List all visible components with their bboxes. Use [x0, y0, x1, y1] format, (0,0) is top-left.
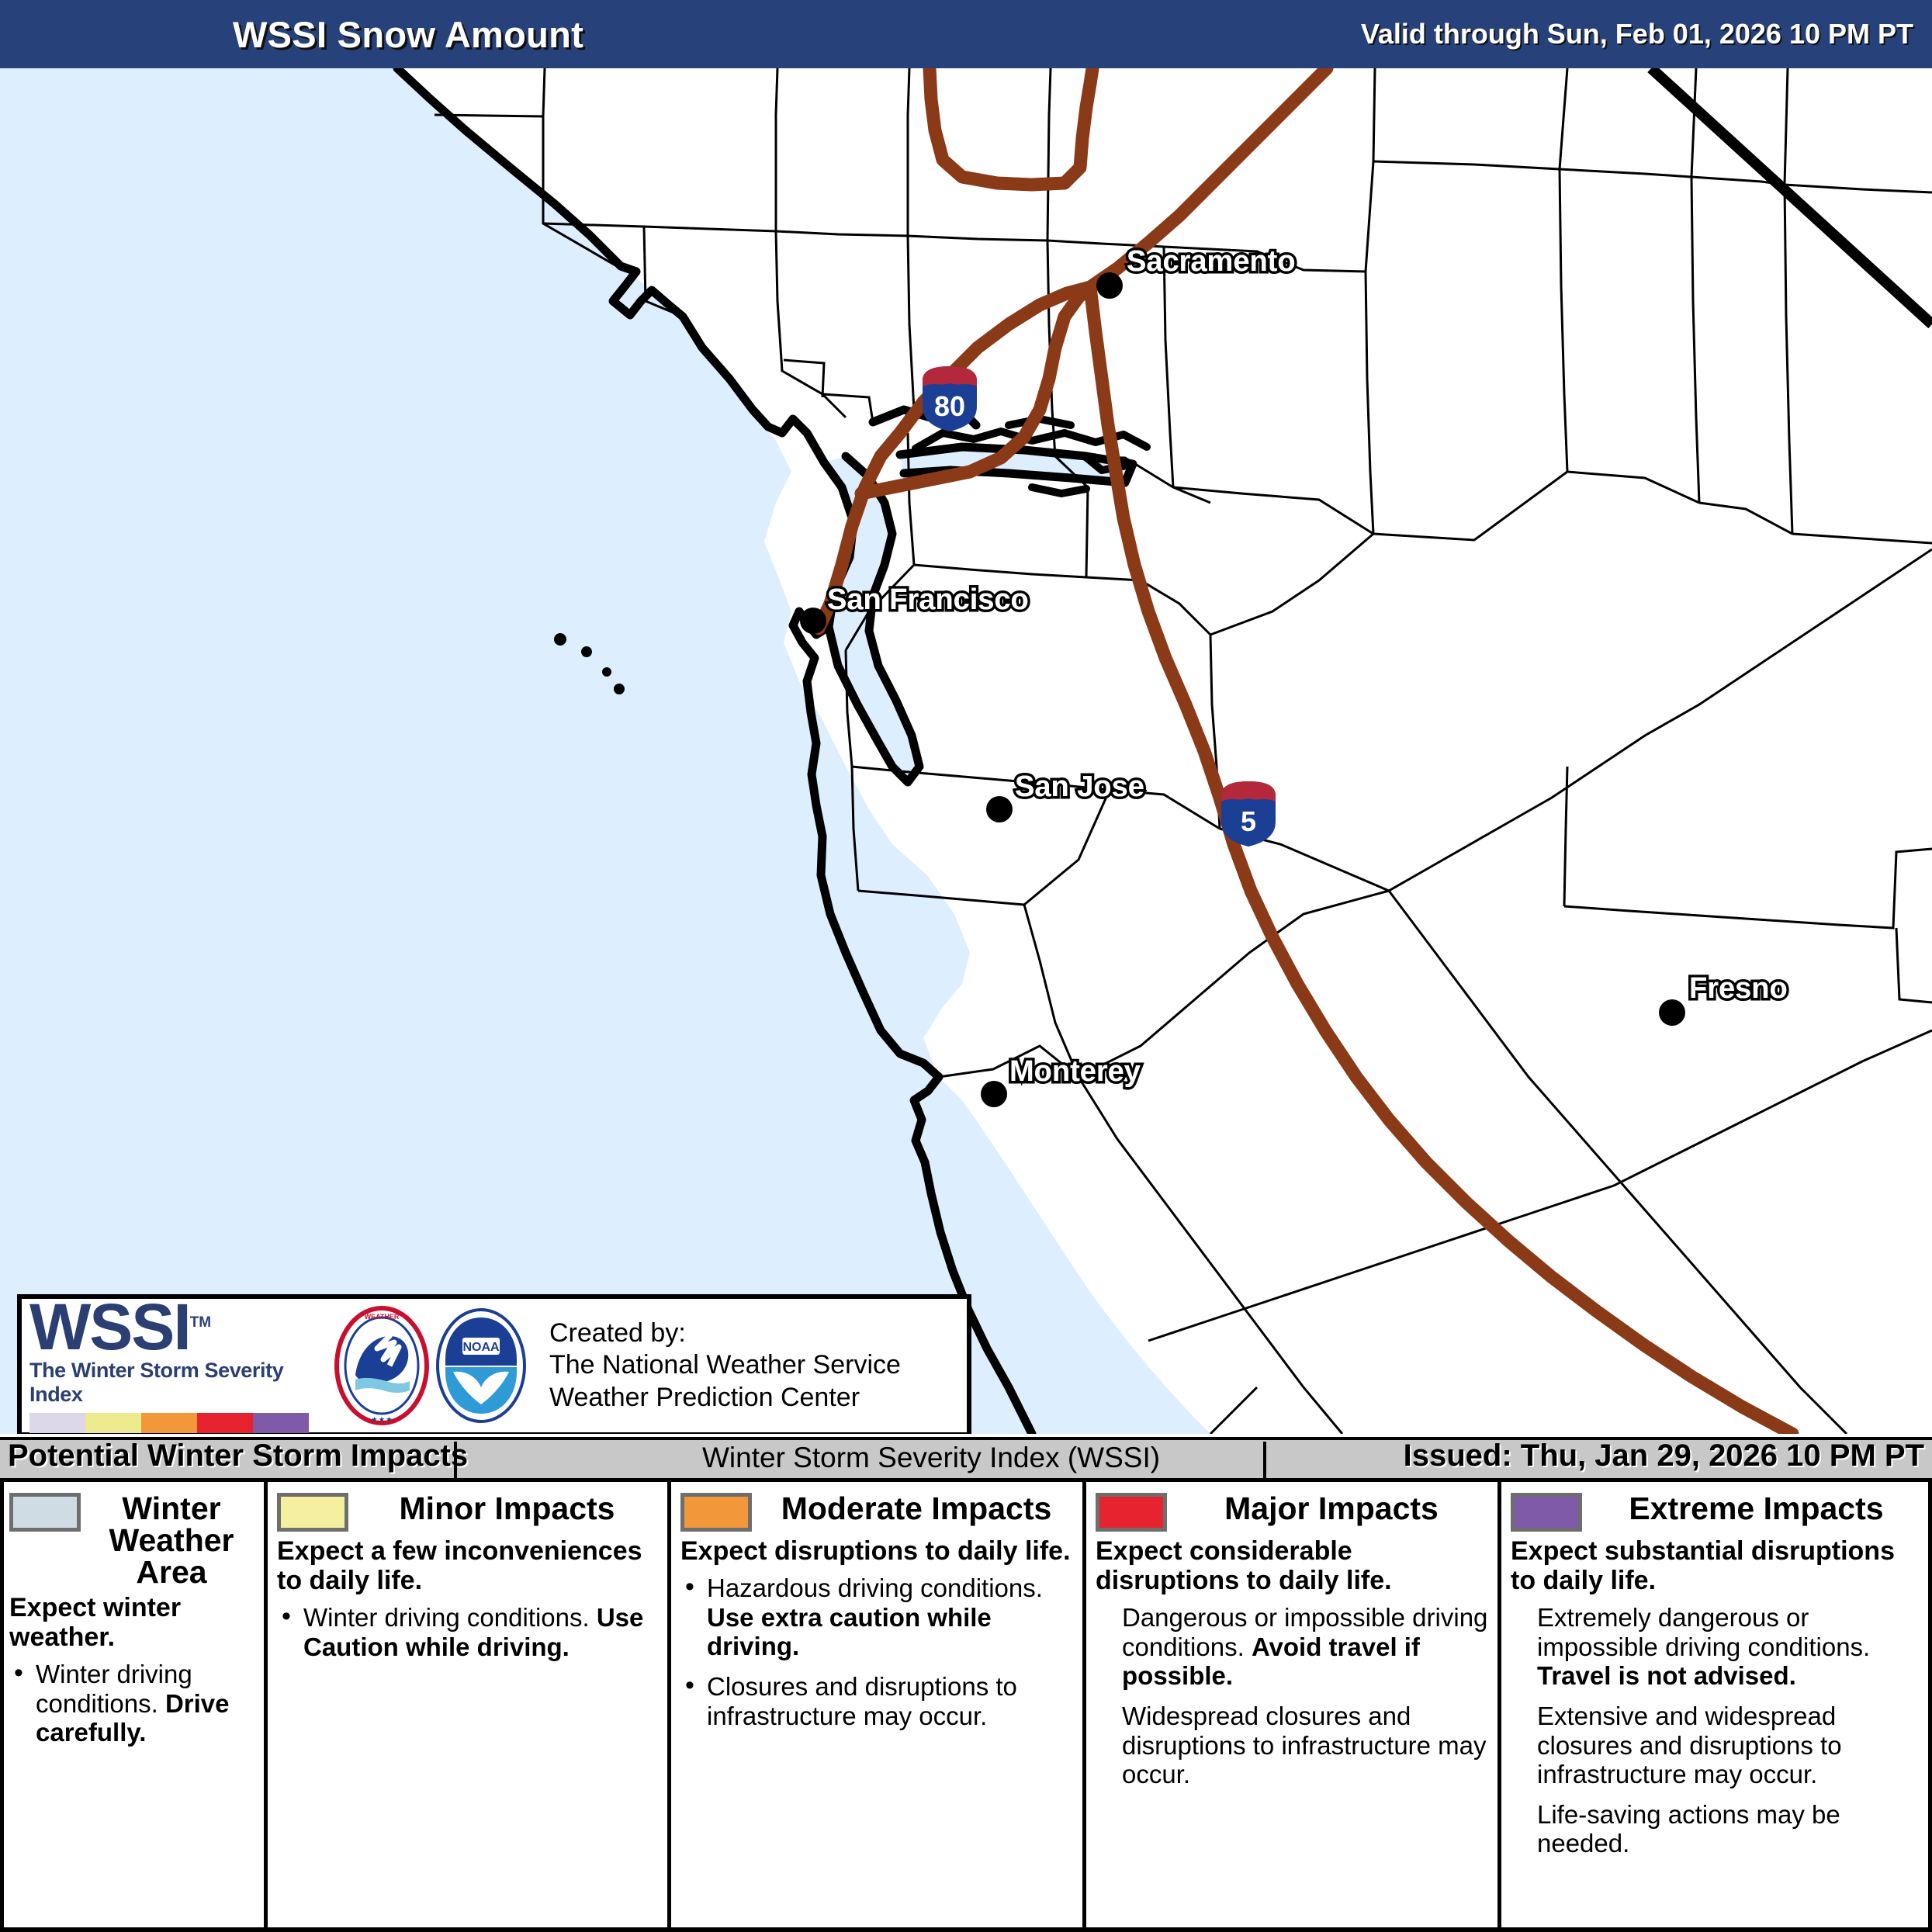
wssi-trademark: TM: [190, 1314, 211, 1331]
strip-swatch-winter-weather: [29, 1413, 85, 1433]
legend-column-extreme-impacts[interactable]: Extreme Impacts Expect substantial disru…: [1501, 1482, 1932, 1927]
city-dot: [1096, 272, 1123, 299]
legend-bullets: •Hazardous driving conditions. Use extra…: [680, 1574, 1073, 1730]
island-farallon-4: [614, 684, 625, 694]
legend-swatch-major-impacts: [1096, 1493, 1167, 1532]
legend-bullet: •Winter driving conditions. Drive carefu…: [9, 1660, 254, 1747]
legend-summary: Expect disruptions to daily life.: [680, 1536, 1073, 1566]
legend-bullet: Extensive and widespread closures and di…: [1511, 1702, 1923, 1789]
legend-summary: Expect considerable disruptions to daily…: [1096, 1536, 1488, 1595]
legend-title-winter-weather-area: Winter Weather Area: [88, 1493, 254, 1588]
interstate-80-number: 80: [934, 390, 965, 422]
created-by-agency: The National Weather Service: [549, 1349, 901, 1381]
legend-swatch-minor-impacts: [277, 1493, 348, 1532]
legend-bullet: •Winter driving conditions. Use Caution …: [277, 1603, 658, 1661]
legend-title-minor-impacts: Minor Impacts: [356, 1493, 658, 1525]
legend-header: Extreme Impacts: [1511, 1493, 1923, 1532]
noaa-logo: NOAA: [431, 1304, 531, 1428]
legend-summary: Expect substantial disruptions to daily …: [1511, 1536, 1923, 1595]
legend-header: Moderate Impacts: [680, 1493, 1073, 1532]
wssi-snow-amount-map-page: WSSI Snow Amount Valid through Sun, Feb …: [0, 0, 1932, 1932]
city-label-sacramento-fill: Sacramento: [1127, 245, 1296, 279]
legend-bullet: Extremely dangerous or impossible drivin…: [1511, 1603, 1923, 1691]
city-dot: [986, 796, 1013, 822]
legend-swatch-moderate-impacts: [680, 1493, 752, 1532]
legend-column-winter-weather-area[interactable]: Winter Weather Area Expect winter weathe…: [0, 1482, 268, 1927]
city-dot: [981, 1081, 1007, 1107]
strip-swatch-extreme: [253, 1413, 309, 1433]
legend-title-line: Winter: [88, 1493, 254, 1525]
svg-text:WEATHER: WEATHER: [365, 1313, 400, 1321]
bullet-marker: •: [282, 1601, 291, 1632]
bullet-text-plain: Life-saving actions may be needed.: [1537, 1800, 1840, 1858]
map-geography: [0, 68, 1932, 1434]
created-by-center: Weather Prediction Center: [549, 1382, 901, 1414]
svg-text:★ ★ ★: ★ ★ ★: [372, 1416, 393, 1423]
interstate-5-number: 5: [1241, 805, 1256, 837]
valid-through-text: Valid through Sun, Feb 01, 2026 10 PM PT: [1361, 18, 1913, 50]
legend-bullet: Dangerous or impossible driving conditio…: [1096, 1603, 1488, 1691]
svg-text:NOAA: NOAA: [462, 1341, 500, 1354]
island-farallon-1: [554, 633, 566, 646]
city-dot: [800, 608, 826, 634]
impacts-bar: Potential Winter Storm Impacts Winter St…: [0, 1437, 1932, 1482]
bullet-text-plain: Extremely dangerous or impossible drivin…: [1537, 1603, 1870, 1661]
legend-header: Major Impacts: [1096, 1493, 1488, 1532]
impacts-bar-subtitle: Winter Storm Severity Index (WSSI): [702, 1442, 1160, 1474]
legend-bullets: •Winter driving conditions. Use Caution …: [277, 1603, 658, 1661]
bullet-text-plain: Widespread closures and disruptions to i…: [1122, 1702, 1487, 1788]
legend-summary: Expect winter weather.: [9, 1593, 254, 1652]
bullet-text-bold: Use extra caution while driving.: [707, 1603, 992, 1661]
legend-header: Winter Weather Area: [9, 1493, 254, 1588]
city-label-monterey-fill: Monterey: [1009, 1055, 1141, 1089]
wssi-logo-box: WSSITM The Winter Storm Severity Index: [17, 1294, 971, 1434]
legend-column-moderate-impacts[interactable]: Moderate Impacts Expect disruptions to d…: [671, 1482, 1086, 1927]
national-weather-service-logo: WEATHER ★ ★ ★: [332, 1304, 431, 1428]
strip-swatch-major: [197, 1413, 253, 1433]
island-farallon-3: [602, 667, 611, 677]
bullet-text-plain: Winter driving conditions.: [303, 1603, 597, 1632]
map-canvas[interactable]: Sacramento Sacramento San Francisco San …: [0, 68, 1932, 1434]
legend-bullet: •Hazardous driving conditions. Use extra…: [680, 1574, 1073, 1661]
bullet-text-plain: Closures and disruptions to infrastructu…: [707, 1672, 1017, 1730]
page-title: WSSI Snow Amount: [233, 13, 583, 56]
wssi-color-strip: [29, 1413, 309, 1433]
city-label-fresno-fill: Fresno: [1689, 972, 1788, 1006]
island-farallon-2: [581, 646, 592, 657]
bullet-marker: •: [685, 1572, 694, 1602]
created-by-block: Created by: The National Weather Service…: [549, 1317, 901, 1414]
header-bar: WSSI Snow Amount Valid through Sun, Feb …: [0, 0, 1932, 68]
legend-swatch-extreme-impacts: [1511, 1493, 1582, 1532]
interstate-5-shield-icon[interactable]: 5: [1218, 778, 1279, 850]
interstate-80-shield-icon[interactable]: 80: [919, 363, 980, 435]
legend-title-line: Area: [88, 1556, 254, 1588]
issued-text: Issued: Thu, Jan 29, 2026 10 PM PT: [1404, 1439, 1924, 1473]
bullet-text-plain: Extensive and widespread closures and di…: [1537, 1702, 1842, 1788]
impacts-bar-title: Potential Winter Storm Impacts: [8, 1439, 468, 1473]
wssi-tagline: The Winter Storm Severity Index: [29, 1359, 332, 1407]
legend-title-line: Weather: [88, 1525, 254, 1556]
legend-summary: Expect a few inconveniences to daily lif…: [277, 1536, 658, 1595]
wssi-wordmark-text: WSSI: [29, 1290, 190, 1363]
legend-title-major-impacts: Major Impacts: [1175, 1493, 1488, 1525]
impacts-bar-divider-1: [454, 1442, 457, 1479]
bullet-text-plain: Hazardous driving conditions.: [707, 1574, 1043, 1602]
legend-bullets: Extremely dangerous or impossible drivin…: [1511, 1603, 1923, 1858]
impacts-bar-divider-2: [1263, 1442, 1266, 1479]
wssi-brand-block: WSSITM The Winter Storm Severity Index: [29, 1298, 332, 1433]
legend-bullets: Dangerous or impossible driving conditio…: [1096, 1603, 1488, 1789]
city-label-san-jose-fill: San Jose: [1015, 770, 1144, 804]
strip-swatch-minor: [85, 1413, 141, 1433]
city-label-san-francisco-fill: San Francisco: [827, 583, 1029, 617]
legend-title-moderate-impacts: Moderate Impacts: [760, 1493, 1073, 1525]
city-dot: [1659, 999, 1685, 1026]
bullet-marker: •: [685, 1671, 694, 1701]
legend-column-major-impacts[interactable]: Major Impacts Expect considerable disrup…: [1086, 1482, 1501, 1927]
legend-header: Minor Impacts: [277, 1493, 658, 1532]
legend-swatch-winter-weather-area: [9, 1493, 81, 1532]
impact-legend: Winter Weather Area Expect winter weathe…: [0, 1482, 1932, 1932]
strip-swatch-moderate: [141, 1413, 197, 1433]
legend-title-extreme-impacts: Extreme Impacts: [1590, 1493, 1923, 1525]
wssi-wordmark: WSSITM: [29, 1298, 332, 1357]
legend-bullet: Widespread closures and disruptions to i…: [1096, 1702, 1488, 1789]
legend-bullets: •Winter driving conditions. Drive carefu…: [9, 1660, 254, 1747]
legend-bullet: •Closures and disruptions to infrastruct…: [680, 1672, 1073, 1730]
created-by-label: Created by:: [549, 1317, 901, 1349]
legend-bullet: Life-saving actions may be needed.: [1511, 1800, 1923, 1858]
bullet-text-bold: Travel is not advised.: [1537, 1661, 1796, 1690]
legend-column-minor-impacts[interactable]: Minor Impacts Expect a few inconvenience…: [268, 1482, 671, 1927]
bullet-marker: •: [14, 1658, 23, 1688]
